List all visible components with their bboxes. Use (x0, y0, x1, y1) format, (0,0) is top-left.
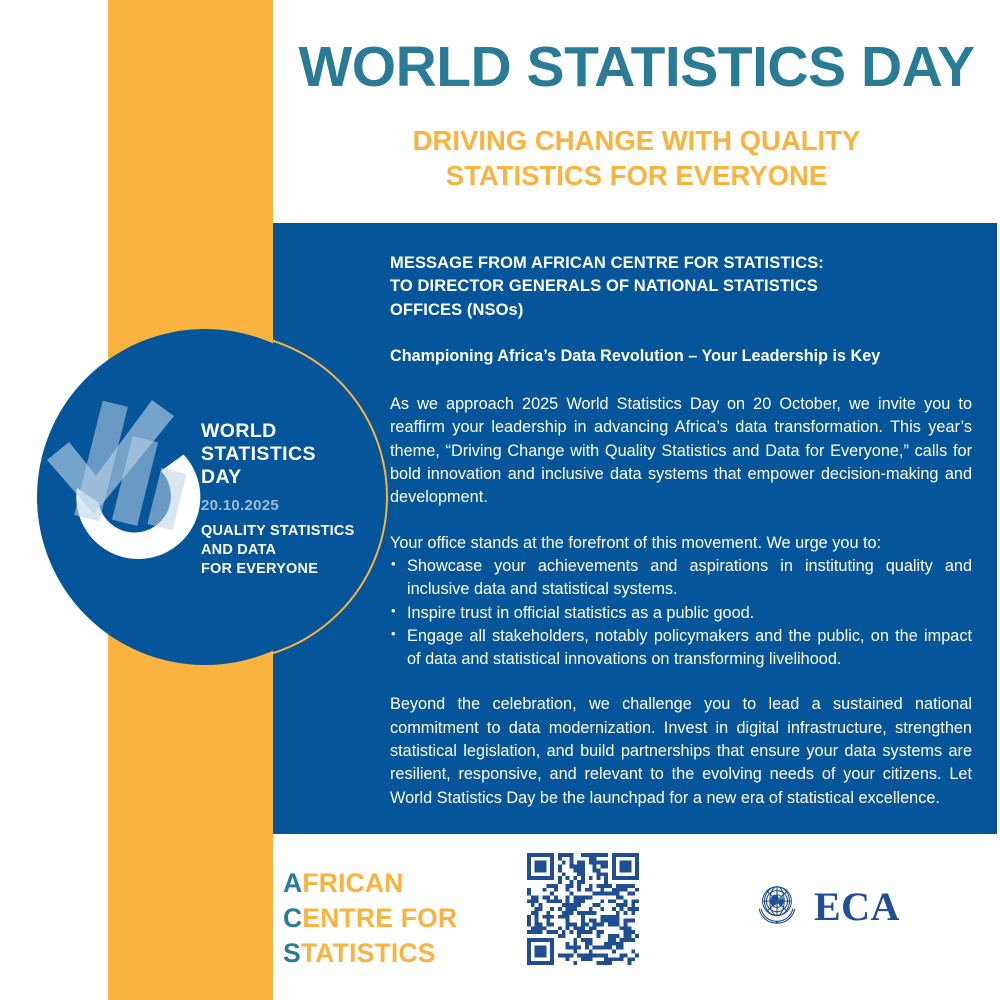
acs-rest-3: TATISTICS (301, 938, 436, 968)
logo-text-block: WORLD STATISTICS DAY 20.10.2025 QUALITY … (201, 420, 376, 579)
message-heading-line-2: TO DIRECTOR GENERALS OF NATIONAL STATIST… (390, 275, 972, 298)
acs-line-2: CENTRE FOR (283, 901, 457, 936)
acs-line-3: STATISTICS (283, 936, 457, 971)
message-heading-line-3: OFFICES (NSOs) (390, 299, 972, 322)
message-heading: MESSAGE FROM AFRICAN CENTRE FOR STATISTI… (390, 252, 972, 322)
logo-theme-line-2: AND DATA (201, 541, 376, 560)
page-subtitle-line-1: DRIVING CHANGE WITH QUALITY (273, 124, 1000, 158)
african-centre-for-statistics-logo: AFRICAN CENTRE FOR STATISTICS (283, 866, 457, 971)
logo-date: 20.10.2025 (201, 497, 376, 515)
acs-rest-1: FRICAN (302, 868, 403, 898)
page-subtitle-line-2: STATISTICS FOR EVERYONE (273, 159, 1000, 193)
eca-logo: ECA (753, 880, 900, 933)
acs-rest-2: ENTRE FOR (302, 903, 457, 933)
logo-name-line-1: WORLD (201, 420, 376, 443)
page-title: WORLD STATISTICS DAY (273, 0, 1000, 97)
list-item: Inspire trust in official statistics as … (390, 602, 972, 625)
message-paragraph-2: Beyond the celebration, we challenge you… (390, 693, 972, 809)
world-statistics-day-logo: WORLD STATISTICS DAY 20.10.2025 QUALITY … (18, 310, 393, 685)
logo-theme-line-1: QUALITY STATISTICS (201, 522, 376, 541)
eca-label: ECA (814, 887, 900, 927)
acs-cap-a: A (283, 868, 302, 898)
list-item: Engage all stakeholders, notably policym… (390, 625, 972, 672)
message-bullet-list: Showcase your achievements and aspiratio… (390, 555, 972, 671)
list-item: Showcase your achievements and aspiratio… (390, 555, 972, 602)
logo-name-line-2: STATISTICS (201, 443, 376, 466)
poster-canvas: WORLD STATISTICS DAY DRIVING CHANGE WITH… (0, 0, 1000, 1000)
qr-code-icon[interactable] (527, 853, 639, 965)
acs-cap-c: C (283, 903, 302, 933)
logo-name-line-3: DAY (201, 466, 376, 489)
logo-name: WORLD STATISTICS DAY (201, 420, 376, 490)
acs-cap-s: S (283, 938, 301, 968)
page-subtitle: DRIVING CHANGE WITH QUALITY STATISTICS F… (273, 97, 1000, 193)
message-paragraph-1: As we approach 2025 World Statistics Day… (390, 393, 972, 509)
checkmark-bars-logo-icon (44, 392, 219, 577)
acs-line-1: AFRICAN (283, 866, 457, 901)
message-subheading: Championing Africa’s Data Revolution – Y… (390, 346, 972, 368)
logo-theme: QUALITY STATISTICS AND DATA FOR EVERYONE (201, 522, 376, 579)
message-heading-line-1: MESSAGE FROM AFRICAN CENTRE FOR STATISTI… (390, 252, 972, 275)
poster-footer: AFRICAN CENTRE FOR STATISTICS (0, 834, 1000, 1000)
logo-theme-line-3: FOR EVERYONE (201, 560, 376, 579)
poster-header: WORLD STATISTICS DAY DRIVING CHANGE WITH… (273, 0, 1000, 223)
un-emblem-icon (753, 880, 801, 933)
message-body: MESSAGE FROM AFRICAN CENTRE FOR STATISTI… (390, 252, 972, 810)
message-lead-in: Your office stands at the forefront of t… (390, 532, 972, 555)
